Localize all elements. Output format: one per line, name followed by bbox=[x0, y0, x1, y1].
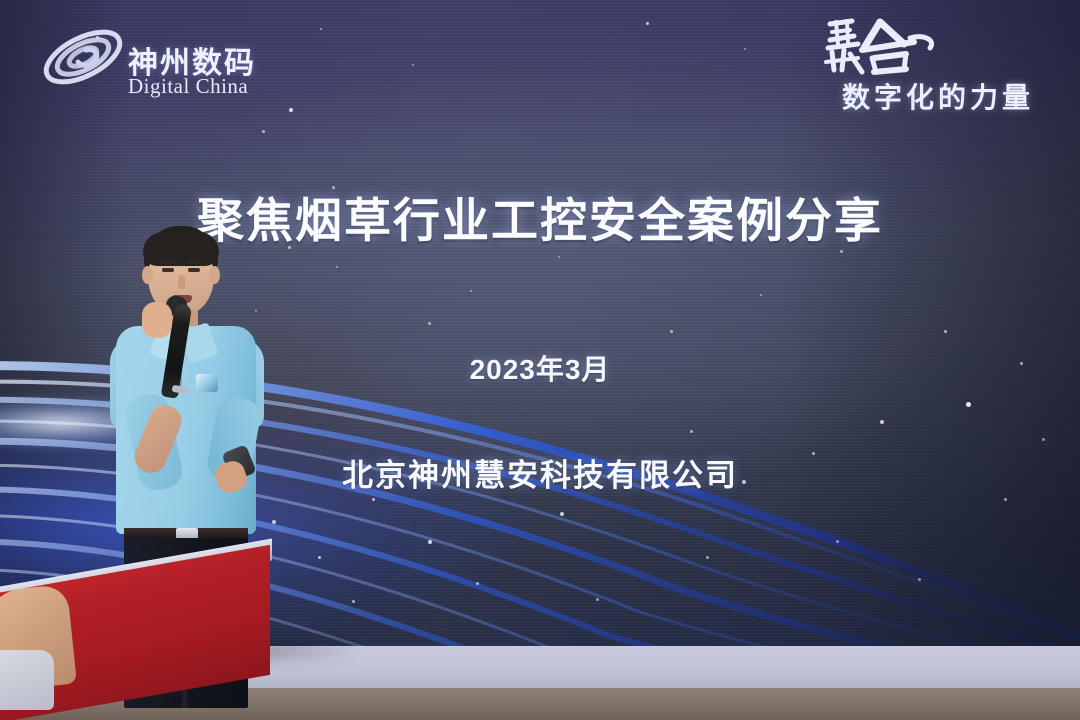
digital-china-logo: 神州数码 Digital China bbox=[40, 18, 280, 98]
speaker-eyebrow-right bbox=[187, 261, 202, 264]
speaker-eye-right bbox=[188, 268, 200, 272]
speaker-hand-left bbox=[142, 302, 172, 338]
speaker-ear-left bbox=[142, 266, 153, 284]
speaker-hair-front bbox=[143, 232, 219, 266]
digital-china-english-name: Digital China bbox=[128, 74, 248, 99]
speaker-chest-logo bbox=[196, 374, 218, 392]
foreground-person-sleeve bbox=[0, 650, 54, 710]
event-logo: 数字化的力量 bbox=[818, 14, 1064, 118]
speaker-ear-right bbox=[209, 266, 220, 284]
event-logo-subtitle: 数字化的力量 bbox=[842, 76, 1034, 116]
digital-china-swirl-mark bbox=[40, 22, 126, 92]
conference-stage-photo: 神州数码 Digital China bbox=[0, 0, 1080, 720]
speaker-nose bbox=[178, 275, 185, 289]
speaker-eye-left bbox=[162, 268, 174, 272]
speaker-eyebrow-left bbox=[160, 261, 175, 264]
juhe-calligraphy-mark bbox=[818, 14, 958, 80]
